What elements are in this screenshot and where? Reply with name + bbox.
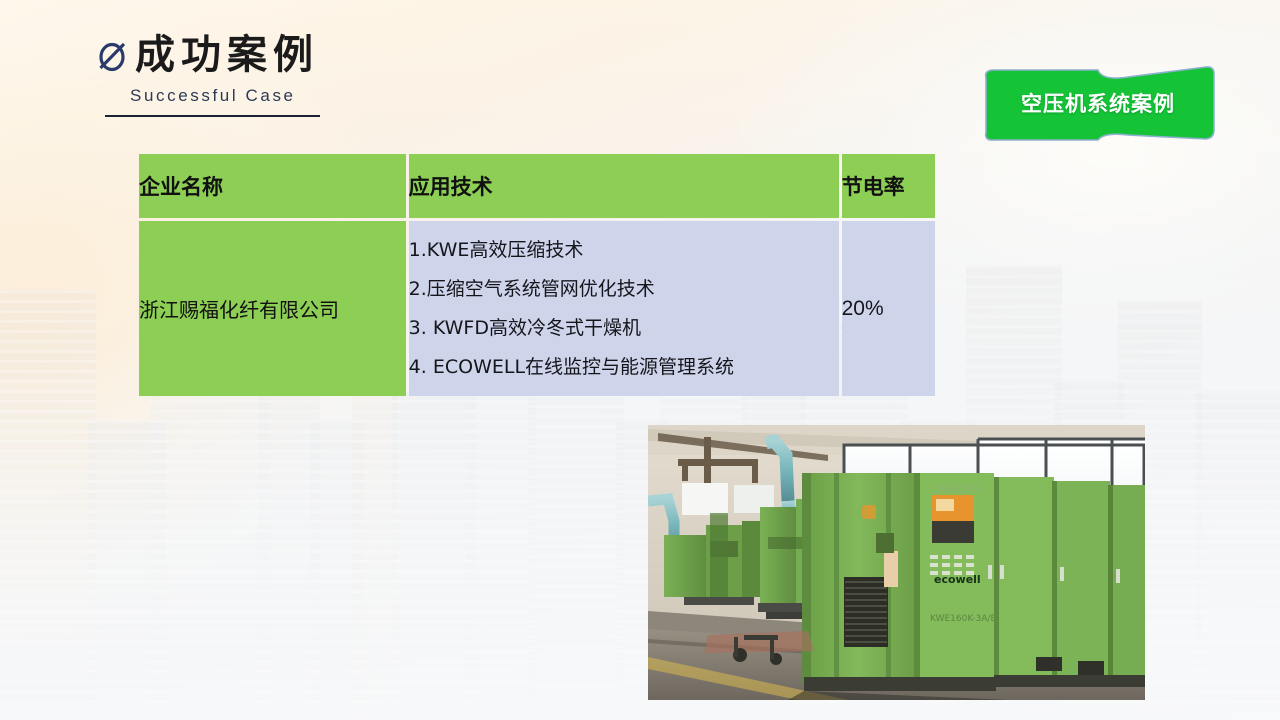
title-divider [105,115,320,117]
table-header-row: 企业名称 应用技术 节电率 [139,154,935,218]
slide-canvas: 成功案例 Successful Case 空压机系统案例 企业名称 应用技术 节… [0,0,1280,720]
column-header-technology: 应用技术 [409,154,839,218]
svg-text:KWE160K-3A/B: KWE160K-3A/B [930,614,997,624]
page-subtitle: Successful Case [130,86,320,106]
cell-company-name: 浙江赐福化纤有限公司 [139,221,406,396]
technology-item: 4. ECOWELL在线监控与能源管理系统 [409,348,839,387]
table-row: 浙江赐福化纤有限公司 1.KWE高效压缩技术 2.压缩空气系统管网优化技术 3.… [139,221,935,396]
svg-text:ecowell: ecowell [934,573,981,586]
technology-item: 1.KWE高效压缩技术 [409,231,839,270]
case-table: 企业名称 应用技术 节电率 浙江赐福化纤有限公司 1.KWE高效压缩技术 2.压… [136,151,938,399]
cell-technologies: 1.KWE高效压缩技术 2.压缩空气系统管网优化技术 3. KWFD高效冷冬式干… [409,221,839,396]
cell-saving-rate: 20% [842,221,935,396]
page-title: 成功案例 [135,33,319,77]
null-set-icon [95,35,129,75]
section-banner-label: 空压机系统案例 [978,88,1218,118]
svg-text:C60-C07: C60-C07 [932,483,979,496]
slide-bottom-edge [0,700,1280,720]
column-header-saving-rate: 节电率 [842,154,935,218]
column-header-company: 企业名称 [139,154,406,218]
page-title-block: 成功案例 Successful Case [95,33,320,117]
technology-item: 3. KWFD高效冷冬式干燥机 [409,309,839,348]
air-compressor-room-photo: ecowell C60-C07 KWE160K-3A/B [648,425,1145,700]
section-banner: 空压机系统案例 [978,64,1218,146]
technology-item: 2.压缩空气系统管网优化技术 [409,270,839,309]
